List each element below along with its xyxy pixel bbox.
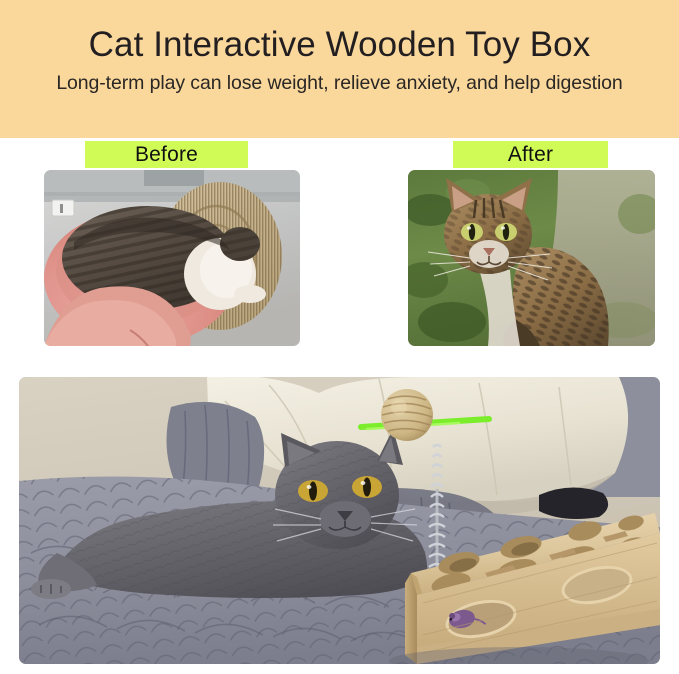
- comparison-panel-before: Before: [28, 138, 328, 353]
- after-cat-photo: [408, 170, 655, 346]
- header-banner: Cat Interactive Wooden Toy Box Long-term…: [0, 0, 679, 138]
- page-subtitle: Long-term play can lose weight, relieve …: [56, 72, 622, 95]
- before-cat-photo: [44, 170, 300, 346]
- comparison-panel-after: After: [374, 138, 674, 353]
- before-after-comparison: Before: [0, 138, 679, 353]
- comparison-label-after: After: [453, 141, 608, 168]
- page-title: Cat Interactive Wooden Toy Box: [89, 24, 591, 65]
- hero-cat-with-toy-box: [19, 377, 660, 664]
- comparison-label-before: Before: [85, 141, 248, 168]
